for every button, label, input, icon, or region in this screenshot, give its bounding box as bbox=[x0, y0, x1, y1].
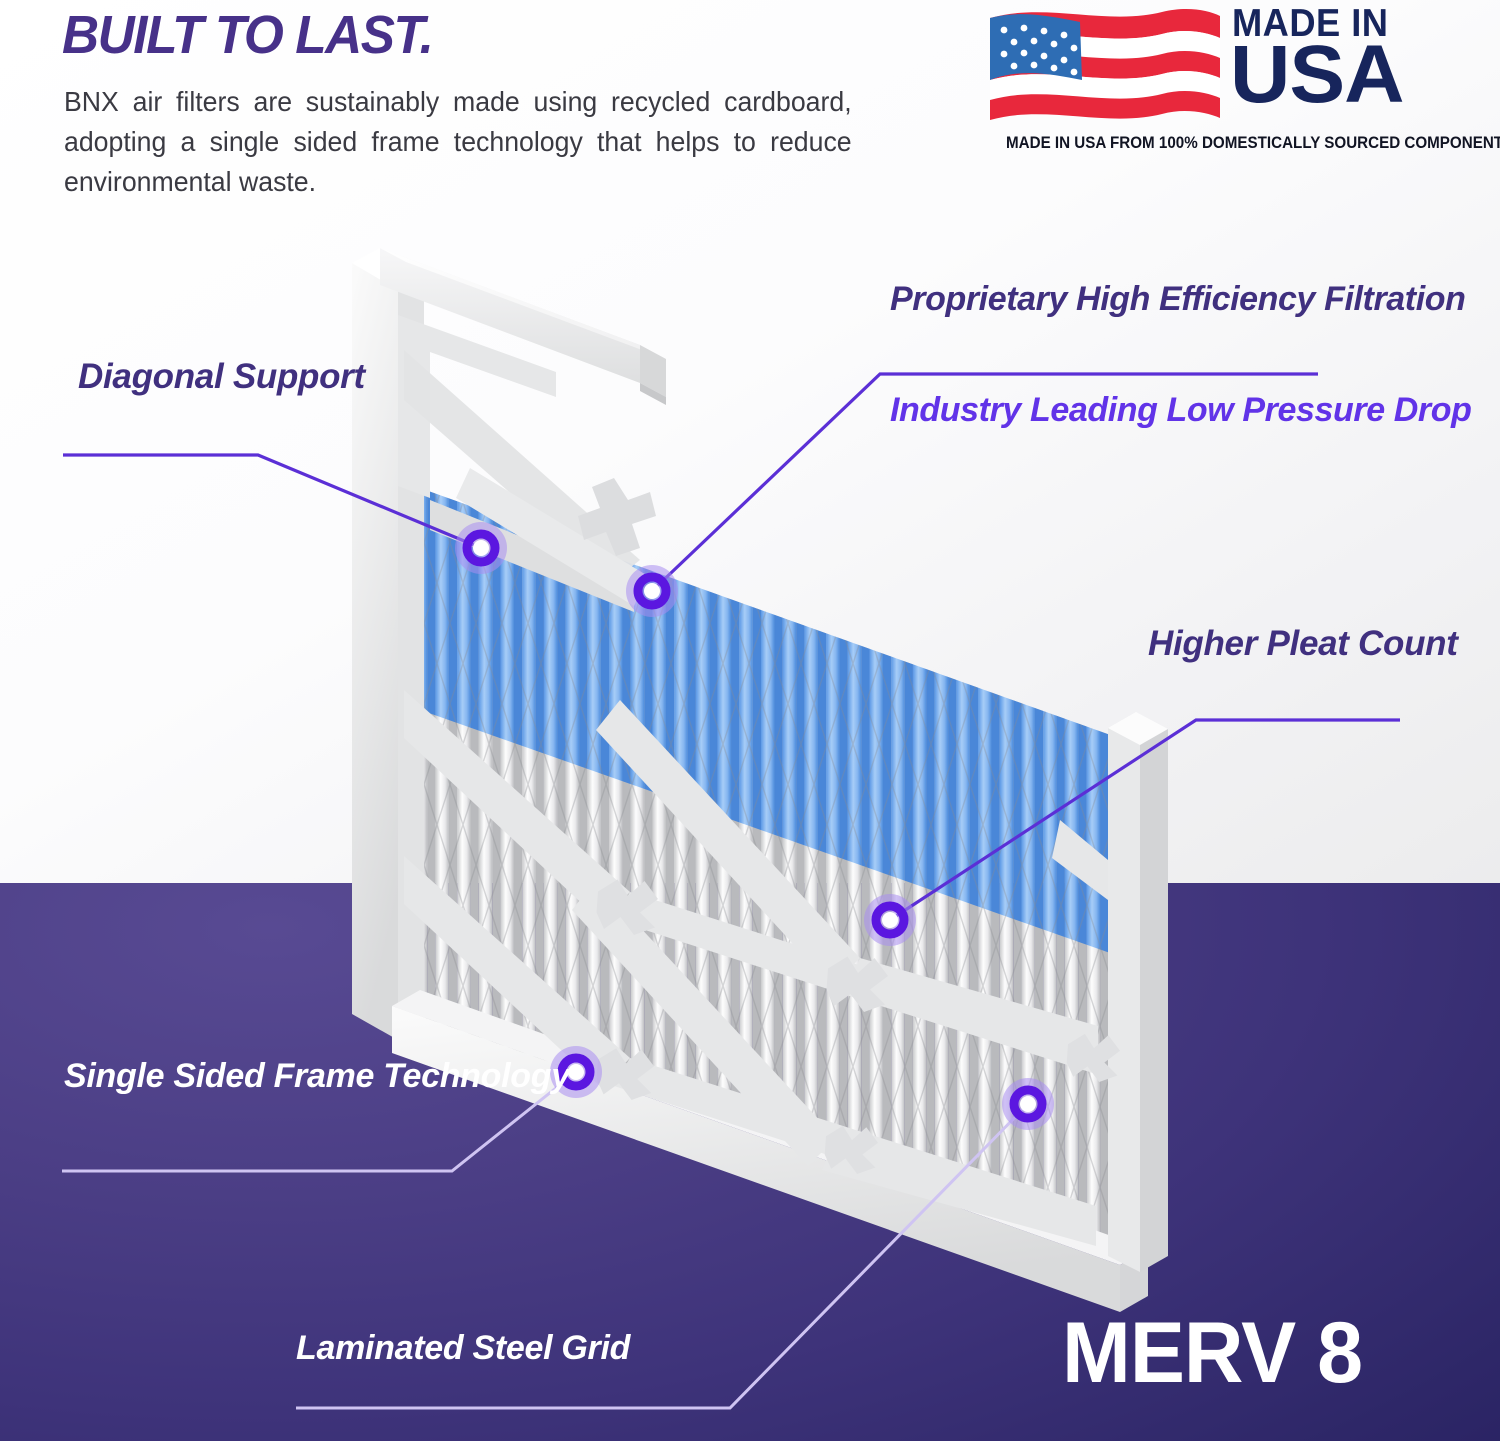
merv-rating-badge: MERV 8 bbox=[1062, 1310, 1362, 1396]
callout-higher-pleat-count: Higher Pleat Count bbox=[1148, 625, 1458, 662]
callout-single-sided-frame: Single Sided Frame Technology bbox=[64, 1058, 570, 1094]
badge-line2: USA bbox=[1230, 34, 1404, 116]
page-subtitle: BNX air filters are sustainably made usi… bbox=[64, 82, 852, 202]
infographic-canvas: BUILT TO LAST. BNX air filters are susta… bbox=[0, 0, 1500, 1441]
made-in-usa-badge: MADE IN USA MADE IN USA FROM 100% DOMEST… bbox=[986, 4, 1438, 154]
badge-tagline: MADE IN USA FROM 100% DOMESTICALLY SOURC… bbox=[1006, 134, 1420, 153]
callout-proprietary-filtration: Proprietary High Efficiency Filtration bbox=[890, 281, 1466, 317]
callout-diagonal-support: Diagonal Support bbox=[78, 358, 365, 395]
callout-laminated-steel-grid: Laminated Steel Grid bbox=[296, 1330, 630, 1366]
callout-low-pressure-drop: Industry Leading Low Pressure Drop bbox=[890, 392, 1472, 428]
usa-flag-icon bbox=[986, 6, 1224, 130]
page-title: BUILT TO LAST. bbox=[62, 8, 432, 62]
